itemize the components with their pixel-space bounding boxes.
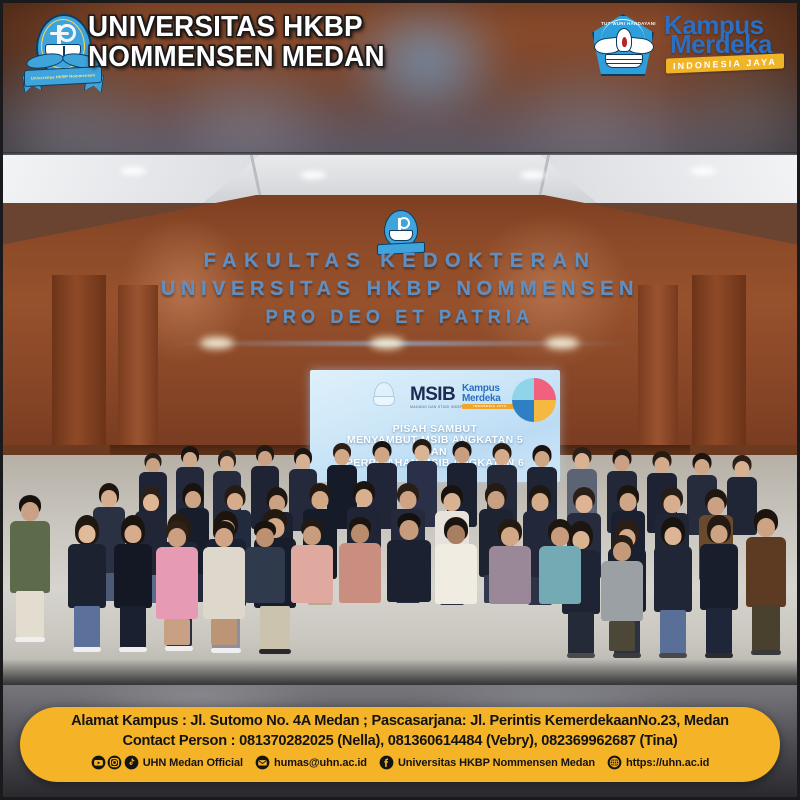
email-group[interactable]: humas@uhn.ac.id [255, 755, 367, 770]
event-photo: FAKULTAS KEDOKTERAN UNIVERSITAS HKBP NOM… [0, 155, 800, 685]
person [66, 517, 108, 653]
header-band: Universitas HKBP Nommensen UNIVERSITAS H… [0, 0, 800, 155]
campus-address: Alamat Kampus : Jl. Sutomo No. 4A Medan … [20, 713, 780, 729]
person [434, 519, 478, 591]
person [112, 517, 154, 653]
youtube-icon[interactable] [91, 755, 106, 770]
person [8, 497, 52, 647]
website-label: https://uhn.ac.id [626, 757, 709, 769]
person [386, 515, 432, 591]
tut-wuri-arc-text: TUT WURI HANDAYANI [601, 21, 645, 26]
email-label: humas@uhn.ac.id [274, 757, 367, 769]
person [244, 523, 286, 591]
tiktok-icon[interactable] [124, 755, 139, 770]
person [744, 511, 788, 659]
contact-person: Contact Person : 081370282025 (Nella), 0… [20, 733, 780, 749]
person [488, 521, 532, 591]
person [600, 537, 644, 655]
globe-icon[interactable] [607, 755, 622, 770]
institution-title: UNIVERSITAS HKBP NOMMENSEN MEDAN [88, 13, 385, 72]
instagram-icon[interactable] [107, 755, 122, 770]
contact-info-panel: Alamat Kampus : Jl. Sutomo No. 4A Medan … [20, 707, 780, 782]
person [338, 519, 382, 591]
kampus-merdeka-line2: Merdeka [670, 33, 772, 57]
facebook-group[interactable]: Universitas HKBP Nommensen Medan [379, 755, 595, 770]
person [698, 517, 740, 659]
facebook-label: Universitas HKBP Nommensen Medan [398, 757, 595, 769]
poster-canvas: Universitas HKBP Nommensen UNIVERSITAS H… [0, 0, 800, 800]
facebook-icon[interactable] [379, 755, 394, 770]
kampus-merdeka-logo: Kampus Merdeka INDONESIA JAYA [660, 12, 788, 74]
social-contacts-row: UHN Medan Official humas@uhn.ac.id Unive… [20, 755, 780, 770]
person [652, 519, 694, 659]
social-media-label: UHN Medan Official [143, 757, 243, 769]
person [538, 521, 582, 591]
email-icon[interactable] [255, 755, 270, 770]
person [155, 523, 199, 651]
person [290, 521, 334, 591]
social-media-group[interactable]: UHN Medan Official [91, 755, 243, 770]
crowd-group [0, 155, 800, 685]
person [202, 523, 246, 651]
tut-wuri-handayani-icon: TUT WURI HANDAYANI [592, 14, 654, 76]
website-group[interactable]: https://uhn.ac.id [607, 755, 709, 770]
photo-bottom-fade [0, 659, 800, 685]
